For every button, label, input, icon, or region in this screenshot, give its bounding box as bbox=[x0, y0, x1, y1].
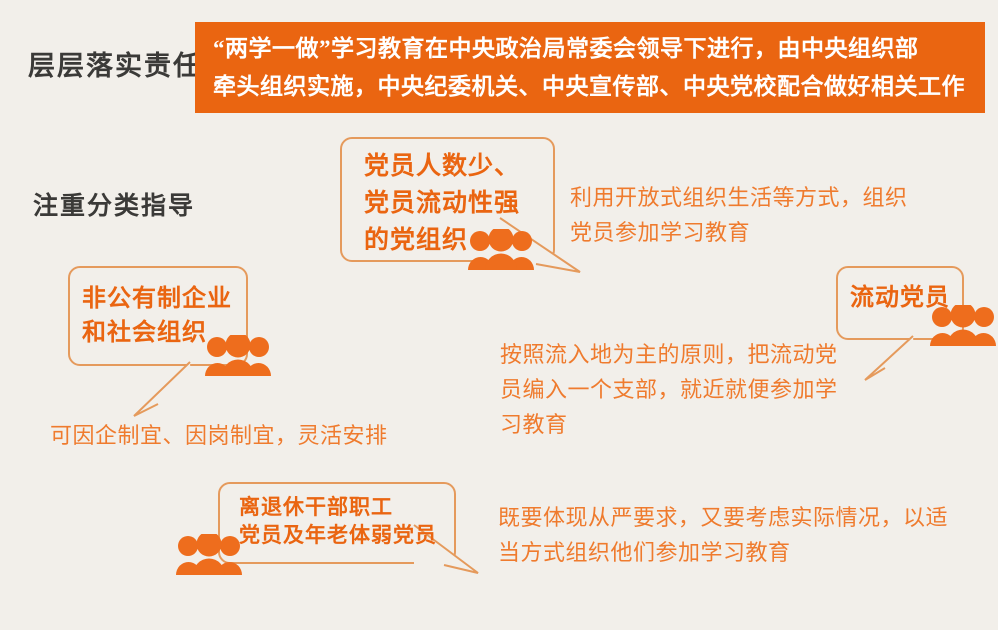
people-group-icon bbox=[930, 305, 996, 347]
people-group-icon bbox=[176, 534, 242, 576]
description-open-org-life-line-2: 党员参加学习教育 bbox=[570, 215, 908, 250]
bubble-retired-cadre-label-2: 党员及年老体弱党员 bbox=[239, 519, 437, 549]
bubble-party-org-label-2: 党员流动性强 bbox=[364, 183, 520, 219]
description-open-org-life-line-1: 利用开放式组织生活等方式，组织 bbox=[570, 180, 908, 215]
people-group-icon bbox=[468, 229, 534, 271]
bubble-retired-cadre-label-1: 离退休干部职工 bbox=[239, 491, 393, 521]
description-strict-and-practical-line-1: 既要体现从严要求，又要考虑实际情况，以适 bbox=[498, 500, 948, 535]
bubble-non-public-enterprise-label-1: 非公有制企业 bbox=[82, 278, 232, 313]
bubble-party-org-label-3: 的党组织 bbox=[364, 220, 468, 256]
description-open-org-life: 利用开放式组织生活等方式，组织 党员参加学习教育 bbox=[570, 180, 908, 250]
bubble-party-org-label-1: 党员人数少、 bbox=[364, 146, 520, 182]
infographic-canvas: 层层落实责任 “两学一做”学习教育在中央政治局常委会领导下进行，由中央组织部 牵… bbox=[0, 0, 998, 630]
description-inflow-principle: 按照流入地为主的原则，把流动党 员编入一个支部，就近就便参加学 习教育 bbox=[500, 337, 838, 442]
people-group-icon bbox=[205, 335, 271, 377]
description-strict-and-practical-line-2: 当方式组织他们参加学习教育 bbox=[498, 535, 948, 570]
description-inflow-principle-line-1: 按照流入地为主的原则，把流动党 bbox=[500, 337, 838, 372]
banner-line-1: “两学一做”学习教育在中央政治局常委会领导下进行，由中央组织部 bbox=[213, 30, 971, 68]
banner-line-2: 牵头组织实施，中央纪委机关、中央宣传部、中央党校配合做好相关工作 bbox=[213, 68, 971, 106]
bubble-non-public-enterprise-tail bbox=[110, 360, 220, 430]
description-inflow-principle-line-2: 员编入一个支部，就近就便参加学 bbox=[500, 372, 838, 407]
bubble-non-public-enterprise-label-2: 和社会组织 bbox=[82, 312, 207, 347]
description-strict-and-practical: 既要体现从严要求，又要考虑实际情况，以适 当方式组织他们参加学习教育 bbox=[498, 500, 948, 570]
section-heading-classified-guidance: 注重分类指导 bbox=[33, 186, 195, 222]
section-heading-implement-responsibility: 层层落实责任 bbox=[28, 44, 202, 83]
description-inflow-principle-line-3: 习教育 bbox=[500, 407, 838, 442]
orange-banner: “两学一做”学习教育在中央政治局常委会领导下进行，由中央组织部 牵头组织实施，中… bbox=[195, 22, 985, 113]
